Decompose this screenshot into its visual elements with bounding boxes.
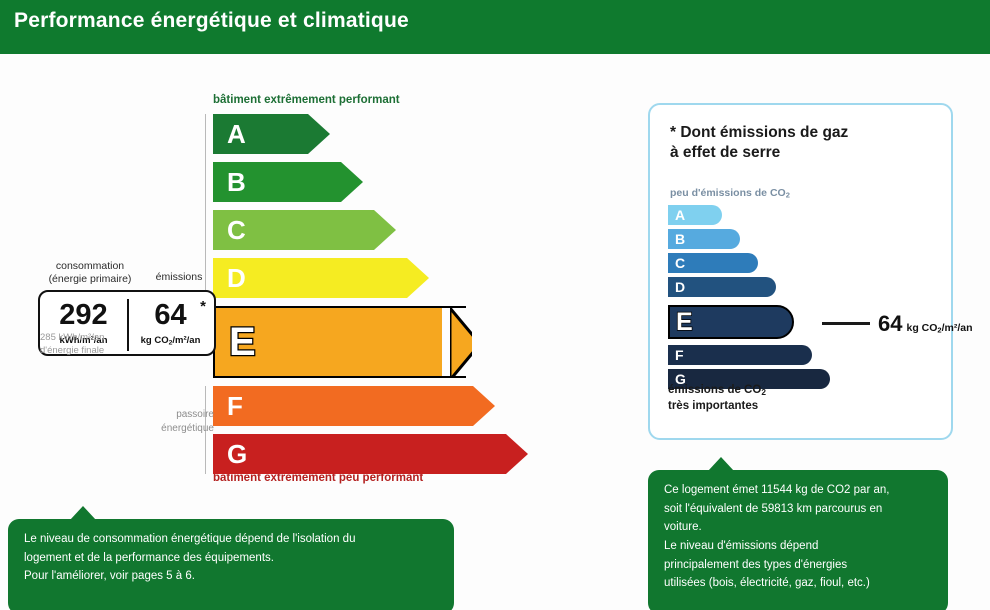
ges-band-b: B <box>668 229 740 249</box>
band-letter: F <box>227 393 243 419</box>
page-title: Performance énergétique et climatique <box>14 9 409 33</box>
ges-leader-line <box>822 322 870 325</box>
ges-band-a: A <box>668 205 722 225</box>
band-letter: B <box>227 169 246 195</box>
passoire-energetique-note: passoire énergétique <box>136 408 214 435</box>
band-body: F <box>213 386 473 426</box>
band-letter: D <box>227 265 246 291</box>
passoire-line2: énergétique <box>136 422 214 436</box>
emissions-label: émissions <box>142 260 216 286</box>
callout-ges-advice: Ce logement émet 11544 kg de CO2 par an,… <box>648 470 948 610</box>
band-body: D <box>213 258 407 298</box>
energy-band-a: A <box>213 114 334 154</box>
ges-band-letter: C <box>675 256 685 270</box>
value-box-headers: consommation (énergie primaire) émission… <box>38 260 216 286</box>
ges-band-letter: D <box>675 280 685 294</box>
energy-band-e: E <box>213 306 466 378</box>
energy-band-b: B <box>213 162 367 202</box>
band-body: A <box>213 114 308 154</box>
ges-title-line2: à effet de serre <box>670 143 848 163</box>
final-energy-line2: d'énergie finale <box>40 345 104 358</box>
band-letter: G <box>227 441 247 467</box>
ges-band-letter: B <box>675 232 685 246</box>
final-energy-note: 285 kWh/m²/an d'énergie finale <box>40 332 104 358</box>
emissions-value: 64 <box>154 301 186 330</box>
energy-band-f: F <box>213 386 499 426</box>
ges-band-f: F <box>668 345 812 365</box>
ges-bottom-caption: émissions de CO2 très importantes <box>668 383 766 414</box>
callout-arrow <box>70 506 96 520</box>
header-banner: Performance énergétique et climatique <box>0 0 990 48</box>
callout-energy-advice: Le niveau de consommation énergétique dé… <box>8 519 454 610</box>
consumption-label-line2: (énergie primaire) <box>38 273 142 286</box>
energy-band-c: C <box>213 210 400 250</box>
ges-band-letter: A <box>675 208 685 222</box>
energy-band-g: G <box>213 434 532 474</box>
band-letter: C <box>227 217 246 243</box>
band-body: G <box>213 434 506 474</box>
callout-arrow <box>708 457 734 471</box>
callout-right-line1: Ce logement émet 11544 kg de CO2 par an, <box>664 481 932 500</box>
passoire-line1: passoire <box>136 408 214 422</box>
ges-panel: * Dont émissions de gaz à effet de serre… <box>648 103 953 440</box>
energy-scale-top-caption: bâtiment extrêmement performant <box>213 94 400 106</box>
ges-title-line1: * Dont émissions de gaz <box>670 123 848 143</box>
ges-band-e: E <box>668 305 794 339</box>
dpe-page: Performance énergétique et climatique bâ… <box>0 0 990 610</box>
consumption-value: 292 <box>59 301 107 330</box>
band-body: B <box>213 162 341 202</box>
band-body: C <box>213 210 374 250</box>
callout-ges-text: Ce logement émet 11544 kg de CO2 par an,… <box>648 470 948 593</box>
consumption-label: consommation (énergie primaire) <box>38 260 142 286</box>
footnote-star: * <box>200 298 206 315</box>
callout-left-line2: logement et de la performance des équipe… <box>24 549 438 568</box>
ges-value-unit: kg CO2/m²/an <box>906 322 972 335</box>
ges-value: 64 <box>878 311 902 337</box>
callout-right-line3: voiture. <box>664 518 932 537</box>
ges-panel-title: * Dont émissions de gaz à effet de serre <box>670 123 848 164</box>
ges-top-caption: peu d'émissions de CO2 <box>670 187 790 200</box>
ges-bottom-line1: émissions de CO2 <box>668 383 766 399</box>
callout-left-line3: Pour l'améliorer, voir pages 5 à 6. <box>24 567 438 586</box>
ges-band-c: C <box>668 253 758 273</box>
callout-left-line1: Le niveau de consommation énergétique dé… <box>24 530 438 549</box>
band-letter: A <box>227 121 246 147</box>
callout-right-line6: utilisées (bois, électricité, gaz, fioul… <box>664 574 932 593</box>
energy-value-box-group: consommation (énergie primaire) émission… <box>38 260 218 356</box>
emissions-unit: kg CO2/m²/an <box>141 335 201 347</box>
final-energy-line1: 285 kWh/m²/an <box>40 332 104 345</box>
callout-right-line5: principalement des types d'énergies <box>664 556 932 575</box>
callout-right-line2: soit l'équivalent de 59813 km parcourus … <box>664 500 932 519</box>
callout-right-line4: Le niveau d'émissions dépend <box>664 537 932 556</box>
ges-bottom-line2: très importantes <box>668 399 766 414</box>
ges-band-d: D <box>668 277 776 297</box>
ges-value-group: 64 kg CO2/m²/an <box>878 311 973 337</box>
ges-band-letter: F <box>675 348 684 362</box>
callout-energy-text: Le niveau de consommation énergétique dé… <box>8 519 454 586</box>
ges-band-letter: E <box>676 310 693 335</box>
band-body: E <box>215 308 442 376</box>
band-letter: E <box>229 322 256 362</box>
energy-band-d: D <box>213 258 433 298</box>
consumption-label-line1: consommation <box>38 260 142 273</box>
